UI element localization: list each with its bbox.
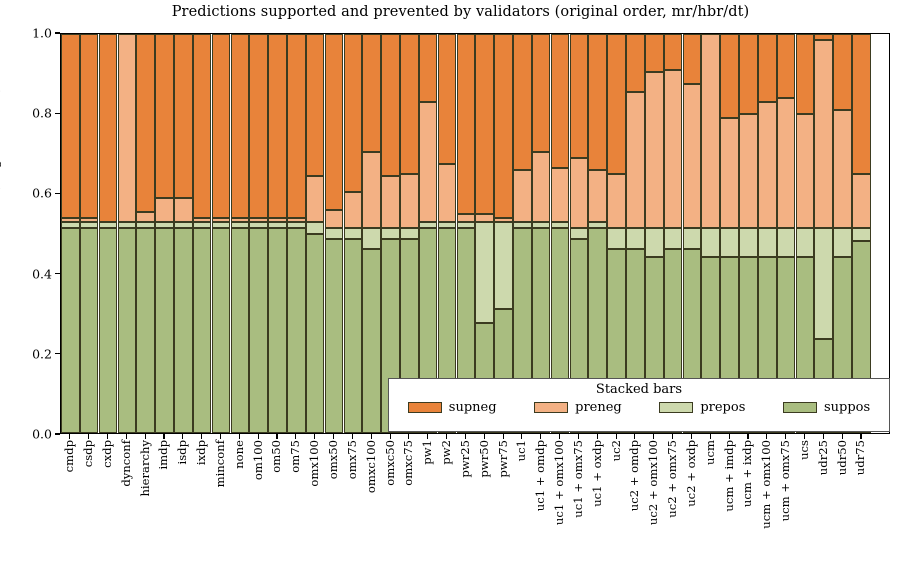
x-tick-mark [126,434,127,439]
x-tick-mark [484,434,485,439]
bar-segment-supneg [777,34,796,98]
x-tick-label: ucm + imdp [722,440,736,512]
bar-segment-prepos [814,228,833,340]
x-tick-label: uc1 [514,440,528,461]
x-tick-mark [88,434,89,439]
bar-segment-prepos [475,222,494,324]
legend-item-prepos[interactable]: prepos [659,400,745,415]
stacked-bar [268,34,287,433]
x-tick-label: cmdp [62,440,76,472]
x-tick-mark [107,434,108,439]
stacked-bar [626,34,645,433]
bar-segment-preneg [852,174,871,228]
x-tick-label: uc2 + omx75 [665,440,679,518]
bar-segment-suppos [325,239,344,433]
chart-figure: Predictions supported and prevented by v… [0,0,921,562]
bar-segment-preneg [814,40,833,228]
bar-segment-preneg [588,170,607,222]
x-tick-mark [390,434,391,439]
bar-segment-supneg [438,34,457,164]
bar-segment-supneg [193,34,212,218]
bar-segment-suppos [80,228,99,433]
stacked-bar [381,34,400,433]
x-tick-label: uc2 [609,440,623,461]
bar-segment-supneg [174,34,193,198]
stacked-bar [249,34,268,433]
legend-label-prepos: prepos [700,400,745,415]
bar-group [61,34,889,433]
stacked-bar [155,34,174,433]
bar-segment-suppos [306,234,325,434]
y-tick-mark [55,433,60,434]
bar-segment-supneg [494,34,513,218]
stacked-bar [796,34,815,433]
bar-segment-preneg [626,92,645,228]
bar-segment-prepos [683,228,702,250]
bar-segment-suppos [231,228,250,433]
bar-segment-prepos [833,228,852,258]
x-tick-label: ixdp [194,440,208,465]
bar-segment-supneg [419,34,438,102]
x-tick-mark [785,434,786,439]
bar-segment-prepos [400,228,419,239]
y-axis-label: Ratio (original order) [0,87,2,233]
bar-segment-preneg [344,192,363,228]
x-tick-mark [747,434,748,439]
x-tick-mark [729,434,730,439]
x-tick-label: omx75 [345,440,359,479]
x-tick-label: om100 [251,440,265,480]
stacked-bar [532,34,551,433]
y-tick-mark [55,193,60,194]
stacked-bar [231,34,250,433]
x-tick-mark [766,434,767,439]
bar-segment-preneg [419,102,438,222]
stacked-bar [457,34,476,433]
stacked-bar [136,34,155,433]
chart-title: Predictions supported and prevented by v… [0,4,921,20]
y-tick-mark [55,353,60,354]
bar-segment-supneg [475,34,494,214]
bar-segment-suppos [193,228,212,433]
bar-segment-supneg [664,34,683,70]
bar-segment-preneg [155,198,174,222]
x-tick-mark [540,434,541,439]
x-tick-mark [276,434,277,439]
stacked-bar [833,34,852,433]
bar-segment-suppos [136,228,155,433]
legend-item-supneg[interactable]: supneg [408,400,497,415]
bar-segment-prepos [325,228,344,239]
x-tick-label: hierarchy [138,440,152,497]
stacked-bar [645,34,664,433]
stacked-bar [814,34,833,433]
x-tick-mark [860,434,861,439]
x-tick-mark [616,434,617,439]
x-tick-label: ucm + ixdp [740,440,754,507]
x-tick-label: uc2 + oxdp [684,440,698,507]
stacked-bar [551,34,570,433]
bar-segment-preneg [136,212,155,222]
stacked-bar [701,34,720,433]
x-tick-label: uc2 + omx100 [646,440,660,525]
bar-segment-preneg [532,152,551,222]
stacked-bar [739,34,758,433]
bar-segment-supneg [513,34,532,170]
bar-segment-preneg [739,114,758,228]
x-tick-mark [258,434,259,439]
x-tick-mark [691,434,692,439]
plot-area [60,33,890,434]
stacked-bar [325,34,344,433]
x-tick-mark [503,434,504,439]
bar-segment-preneg [381,176,400,228]
bar-segment-suppos [118,228,137,433]
bar-segment-preneg [701,34,720,228]
bar-segment-prepos [344,228,363,239]
x-tick-mark [672,434,673,439]
bar-segment-supneg [532,34,551,152]
x-tick-mark [145,434,146,439]
x-tick-label: udr25 [816,440,830,475]
stacked-bar [777,34,796,433]
y-tick-mark [55,113,60,114]
bar-segment-supneg [551,34,570,168]
bar-segment-suppos [174,228,193,433]
bar-segment-preneg [362,152,381,228]
bar-segment-supneg [588,34,607,170]
bar-segment-suppos [212,228,231,433]
x-tick-mark [521,434,522,439]
bar-segment-preneg [118,34,137,222]
legend-title: Stacked bars [596,382,682,397]
x-tick-label: uc1 + omdp [533,440,547,511]
bar-segment-preneg [570,158,589,228]
legend-item-preneg[interactable]: preneg [534,400,622,415]
bar-segment-preneg [438,164,457,222]
bar-segment-supneg [720,34,739,118]
x-tick-label: ucm + omx100 [759,440,773,529]
stacked-bar [61,34,80,433]
bar-segment-supneg [626,34,645,92]
bar-segment-prepos [664,228,683,250]
x-tick-mark [823,434,824,439]
legend-swatch-prepos [659,402,693,413]
legend-swatch-preneg [534,402,568,413]
legend-label-supneg: supneg [449,400,497,415]
bar-segment-supneg [99,34,118,222]
x-tick-label: none [232,440,246,469]
x-tick-mark [597,434,598,439]
legend-label-preneg: preneg [575,400,622,415]
bar-segment-prepos [701,228,720,258]
bar-segment-supneg [758,34,777,102]
bar-segment-suppos [268,228,287,433]
x-tick-label: om75 [288,440,302,473]
x-tick-label: cxdp [100,440,114,468]
stacked-bar [174,34,193,433]
stacked-bar [852,34,871,433]
legend-label-suppos: suppos [824,400,870,415]
stacked-bar [588,34,607,433]
x-tick-label: uc1 + oxdp [590,440,604,507]
y-tick-label: 0.8 [0,106,52,121]
x-tick-label: udr50 [835,440,849,475]
bar-segment-supneg [833,34,852,110]
x-tick-mark [710,434,711,439]
bar-segment-suppos [61,228,80,433]
x-tick-mark [333,434,334,439]
x-tick-mark [163,434,164,439]
bar-segment-prepos [607,228,626,250]
x-tick-mark [578,434,579,439]
x-tick-label: pw1 [420,440,434,465]
bar-segment-prepos [626,228,645,250]
y-tick-mark [55,32,60,33]
stacked-bar [570,34,589,433]
bar-segment-prepos [758,228,777,258]
x-tick-label: pwr75 [496,440,510,478]
bar-segment-preneg [777,98,796,228]
stacked-bar [683,34,702,433]
x-tick-mark [427,434,428,439]
stacked-bar [419,34,438,433]
bar-segment-supneg [80,34,99,218]
bar-segment-supneg [344,34,363,192]
x-tick-mark [408,434,409,439]
x-tick-label: pwr25 [458,440,472,478]
x-tick-mark [465,434,466,439]
x-tick-mark [201,434,202,439]
bar-segment-prepos [494,222,513,310]
stacked-bar [664,34,683,433]
bar-segment-supneg [400,34,419,174]
bar-segment-supneg [645,34,664,72]
stacked-bar [475,34,494,433]
stacked-bar [720,34,739,433]
bar-segment-preneg [720,118,739,228]
bar-segment-supneg [61,34,80,218]
bar-segment-prepos [645,228,664,258]
y-tick-mark [55,273,60,274]
bar-segment-prepos [362,228,381,250]
bar-segment-preneg [645,72,664,228]
bar-segment-prepos [570,228,589,239]
x-tick-mark [446,434,447,439]
x-tick-mark [634,434,635,439]
stacked-bar [362,34,381,433]
bar-segment-supneg [683,34,702,84]
bar-segment-preneg [683,84,702,228]
bar-segment-prepos [852,228,871,242]
x-tick-mark [653,434,654,439]
x-tick-label: ucm [703,440,717,465]
bar-segment-preneg [306,176,325,222]
stacked-bar [80,34,99,433]
y-tick-label: 1.0 [0,26,52,41]
bar-segment-supneg [268,34,287,218]
x-tick-label: uc2 + omdp [627,440,641,511]
stacked-bar [306,34,325,433]
bar-segment-suppos [344,239,363,433]
y-tick-label: 0.6 [0,186,52,201]
bar-segment-supneg [249,34,268,218]
x-tick-mark [352,434,353,439]
y-tick-label: 0.0 [0,427,52,442]
bar-segment-supneg [287,34,306,218]
bar-segment-prepos [720,228,739,258]
y-tick-label: 0.2 [0,346,52,361]
stacked-bar [758,34,777,433]
bar-segment-prepos [306,222,325,234]
legend-items: supnegprenegprepossuppos [389,400,889,415]
x-tick-label: omxc100 [364,440,378,493]
legend-swatch-supneg [408,402,442,413]
bar-segment-supneg [306,34,325,176]
bar-segment-preneg [607,174,626,228]
x-tick-label: omx50 [326,440,340,479]
bar-segment-prepos [381,228,400,239]
x-tick-label: omx100 [307,440,321,487]
bar-segment-preneg [475,214,494,222]
bar-segment-prepos [777,228,796,258]
stacked-bar [494,34,513,433]
stacked-bar [438,34,457,433]
stacked-bar [513,34,532,433]
x-tick-mark [220,434,221,439]
bar-segment-prepos [796,228,815,258]
x-tick-label: pw2 [439,440,453,465]
x-tick-label: ucm + omx75 [778,440,792,521]
x-tick-mark [182,434,183,439]
x-tick-mark [295,434,296,439]
stacked-bar [118,34,137,433]
x-tick-label: isdp [175,440,189,465]
bar-segment-preneg [174,198,193,222]
bar-segment-preneg [457,214,476,222]
bar-segment-preneg [758,102,777,228]
bar-segment-supneg [607,34,626,174]
bar-segment-supneg [457,34,476,214]
y-tick-label: 0.4 [0,266,52,281]
x-tick-mark [371,434,372,439]
bar-segment-supneg [796,34,815,114]
x-tick-label: pwr50 [477,440,491,478]
stacked-bar [607,34,626,433]
bar-segment-supneg [155,34,174,198]
x-tick-mark [239,434,240,439]
bar-segment-supneg [570,34,589,158]
stacked-bar [400,34,419,433]
bar-segment-preneg [796,114,815,228]
x-tick-label: minconf [213,440,227,487]
x-tick-mark [804,434,805,439]
x-tick-label: udr75 [853,440,867,475]
bar-segment-suppos [99,228,118,433]
stacked-bar [99,34,118,433]
stacked-bar [212,34,231,433]
x-tick-mark [842,434,843,439]
bar-segment-preneg [664,70,683,228]
x-tick-label: csdp [81,440,95,467]
x-tick-label: imdp [156,440,170,470]
x-tick-mark [69,434,70,439]
chart-legend: Stacked bars supnegprenegprepossuppos [388,378,890,432]
bar-segment-supneg [852,34,871,174]
bar-segment-supneg [381,34,400,176]
bar-segment-supneg [325,34,344,210]
bar-segment-preneg [513,170,532,222]
x-tick-label: omxc75 [401,440,415,486]
x-tick-label: omxc50 [383,440,397,486]
bar-segment-supneg [362,34,381,152]
bar-segment-suppos [155,228,174,433]
x-tick-label: dynconf [119,440,133,487]
bar-segment-supneg [212,34,231,218]
bar-segment-supneg [136,34,155,212]
bar-segment-suppos [249,228,268,433]
x-tick-mark [314,434,315,439]
bar-segment-suppos [287,228,306,433]
x-tick-label: ucs [797,440,811,460]
stacked-bar [344,34,363,433]
bar-segment-preneg [833,110,852,228]
stacked-bar [287,34,306,433]
bar-segment-prepos [739,228,758,258]
x-tick-label: uc1 + omx75 [571,440,585,518]
bar-segment-suppos [362,249,381,433]
bar-segment-supneg [739,34,758,114]
stacked-bar [193,34,212,433]
legend-item-suppos[interactable]: suppos [783,400,870,415]
x-tick-mark [559,434,560,439]
bar-segment-preneg [325,210,344,228]
legend-swatch-suppos [783,402,817,413]
bar-segment-preneg [551,168,570,222]
bar-segment-preneg [400,174,419,228]
x-tick-label: om50 [269,440,283,473]
bar-segment-supneg [231,34,250,218]
x-tick-label: uc1 + omx100 [552,440,566,525]
